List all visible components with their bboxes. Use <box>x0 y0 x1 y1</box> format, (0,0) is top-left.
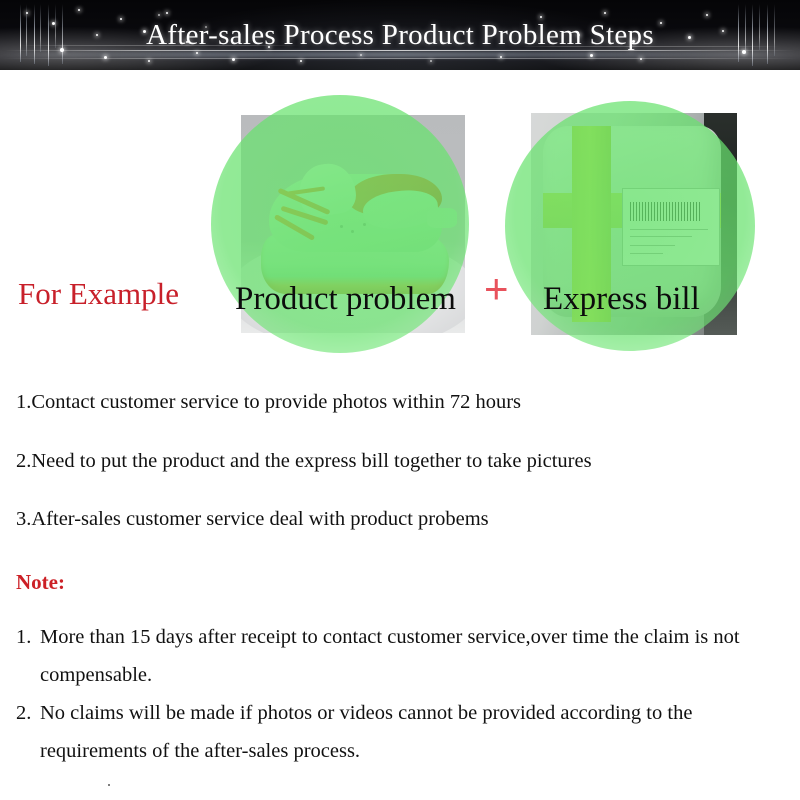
express-bill-label <box>622 188 721 265</box>
label-text-line <box>630 229 707 230</box>
step-item: 3.After-sales customer service deal with… <box>16 509 786 530</box>
label-text-line <box>630 245 675 246</box>
step-item: 1.Contact customer service to provide ph… <box>16 392 786 413</box>
sneaker-eyelet <box>363 223 366 226</box>
label-text-line <box>630 253 663 254</box>
note-item: 1. More than 15 days after receipt to co… <box>16 618 794 694</box>
note-heading: Note: <box>16 570 65 595</box>
example-section: For Example Product problem <box>0 70 800 365</box>
note-item: 2. No claims will be made if photos or v… <box>16 694 794 770</box>
stray-artifact-dot <box>108 784 110 786</box>
page-title: After-sales Process Product Problem Step… <box>0 0 800 70</box>
note-item-number: 1. <box>16 618 40 694</box>
steps-list: 1.Contact customer service to provide ph… <box>16 392 786 568</box>
plus-symbol: + <box>484 268 509 310</box>
sneaker-heel-tab <box>427 208 457 228</box>
for-example-label: For Example <box>18 276 179 312</box>
note-item-text: No claims will be made if photos or vide… <box>40 694 794 770</box>
sneaker-graphic <box>261 172 449 294</box>
express-bill-caption: Express bill <box>543 283 700 316</box>
label-text-line <box>630 236 692 237</box>
step-item: 2.Need to put the product and the expres… <box>16 451 786 472</box>
note-item-text: More than 15 days after receipt to conta… <box>40 618 794 694</box>
product-problem-caption: Product problem <box>235 283 456 316</box>
note-item-number: 2. <box>16 694 40 770</box>
barcode-graphic <box>630 202 700 222</box>
header-banner: After-sales Process Product Problem Step… <box>0 0 800 70</box>
note-list: 1. More than 15 days after receipt to co… <box>16 618 794 770</box>
